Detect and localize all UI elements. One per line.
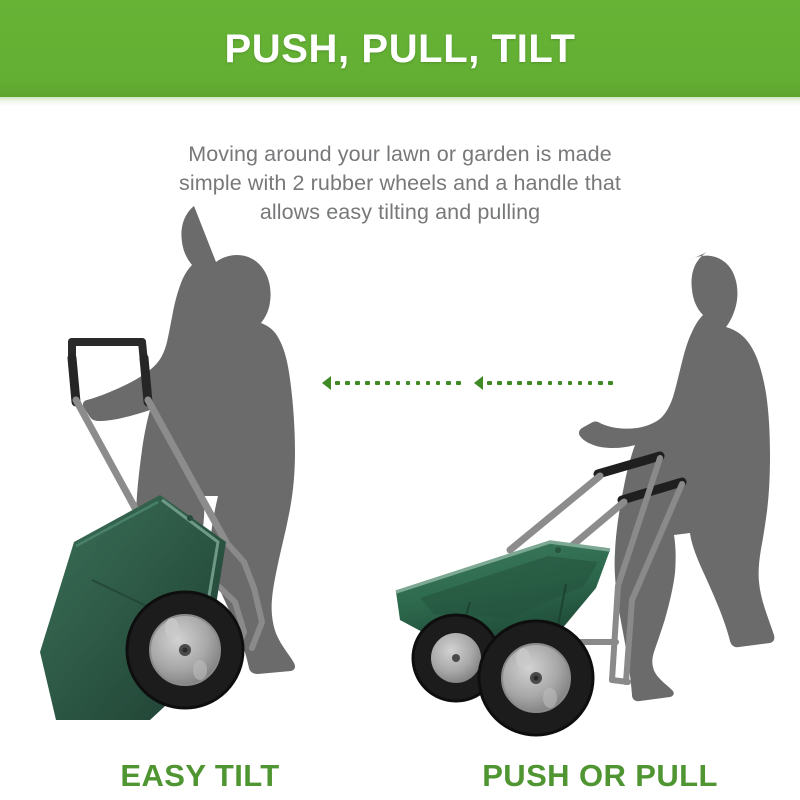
divider-dot: [548, 381, 553, 386]
divider-dot: [426, 381, 431, 386]
illustration-easy-tilt: [30, 250, 350, 720]
divider-dot: [608, 381, 613, 386]
divider-dot: [406, 381, 411, 386]
arrow-left-icon: [474, 376, 483, 390]
divider-dot: [507, 381, 512, 386]
divider-dot: [527, 381, 532, 386]
wheelbarrow-wheel-front: [479, 621, 593, 735]
divider-dot: [598, 381, 603, 386]
divider-dot: [446, 381, 451, 386]
divider-dot: [517, 381, 522, 386]
divider-dot: [355, 381, 360, 386]
subtitle-line-2: simple with 2 rubber wheels and a handle…: [100, 169, 700, 198]
divider-dot: [487, 381, 492, 386]
dotted-arrow-group-left: [322, 374, 466, 392]
divider-dot: [568, 381, 573, 386]
divider-dot: [375, 381, 380, 386]
header-band-shadow: [0, 97, 800, 106]
divider-dotted-arrows: [322, 374, 612, 392]
caption-push-or-pull: PUSH OR PULL: [400, 758, 800, 794]
page-title: PUSH, PULL, TILT: [0, 27, 800, 71]
arrow-left-icon: [322, 376, 331, 390]
dotted-arrow-group-right: [474, 374, 618, 392]
divider-dot: [396, 381, 401, 386]
divider-dot: [436, 381, 441, 386]
divider-dot: [537, 381, 542, 386]
product-feature-infographic: PUSH, PULL, TILT Moving around your lawn…: [0, 0, 800, 800]
divider-dot: [456, 381, 461, 386]
divider-dot: [335, 381, 340, 386]
divider-dot: [385, 381, 390, 386]
divider-dot: [365, 381, 370, 386]
divider-dot: [588, 381, 593, 386]
wheelbarrow-wheel-tilting: [127, 592, 243, 708]
divider-dot: [497, 381, 502, 386]
illustration-push-or-pull: [360, 250, 770, 720]
divider-dot: [416, 381, 421, 386]
divider-dot: [578, 381, 583, 386]
caption-easy-tilt: EASY TILT: [0, 758, 400, 794]
divider-dot: [558, 381, 563, 386]
divider-dot: [345, 381, 350, 386]
silhouette-man-pushing: [579, 252, 774, 701]
subtitle-line-1: Moving around your lawn or garden is mad…: [100, 140, 700, 169]
